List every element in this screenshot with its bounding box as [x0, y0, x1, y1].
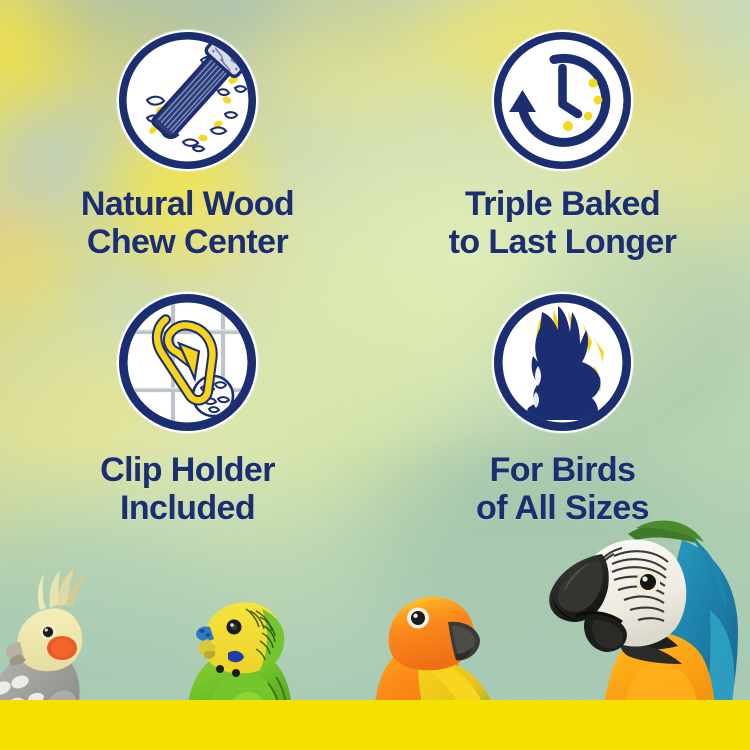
feature-graphic: Natural Wood Chew Center — [0, 0, 750, 750]
cockatoo-head-icon — [492, 292, 633, 433]
clock-with-arrow-icon — [492, 30, 633, 171]
feature-item-triple-baked: Triple Baked to Last Longer — [375, 0, 750, 270]
feature-label-natural-wood-chew-center: Natural Wood Chew Center — [81, 185, 294, 261]
feature-label-triple-baked: Triple Baked to Last Longer — [449, 185, 677, 261]
cage-clip-holder-icon — [117, 292, 258, 433]
feature-item-natural-wood-chew-center: Natural Wood Chew Center — [0, 0, 375, 270]
bottom-yellow-band — [0, 700, 750, 750]
feature-grid: Natural Wood Chew Center — [0, 0, 750, 540]
wood-chew-stick-icon — [117, 30, 258, 171]
